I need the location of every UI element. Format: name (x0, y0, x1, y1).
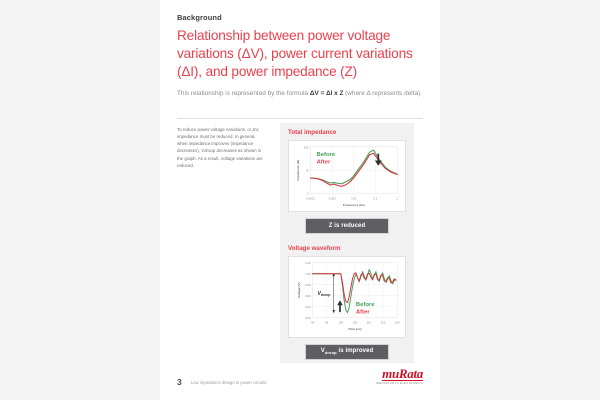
impedance-xtick-3: 0.1 (374, 196, 378, 200)
footer-text: Low impedance design in power circuits (191, 381, 376, 386)
voltage-callout-button[interactable]: Vdroop is improved (305, 344, 389, 361)
voltage-ytick-5: 0.92 (305, 315, 311, 319)
subtitle-pre: This relationship is represented by the … (177, 90, 310, 97)
screenshot-canvas: Background Relationship between power vo… (0, 0, 600, 400)
impedance-xtick-0: 0.0001 (306, 196, 315, 200)
page-header: Background Relationship between power vo… (177, 13, 423, 98)
page-title: Relationship between power voltage varia… (177, 27, 423, 81)
voltage-ytick-4: 0.94 (305, 304, 311, 308)
impedance-legend-after: After (317, 159, 331, 165)
voltage-ytick-3: 0.96 (305, 294, 311, 298)
voltage-xtick-6: 120 (395, 320, 400, 324)
voltage-chart-heading: Voltage waveform (288, 245, 406, 252)
impedance-xaxis-title: Frequency (Hz) (343, 203, 365, 207)
impedance-ytick-10: 10 (305, 169, 309, 173)
voltage-ytick-0: 1.02 (305, 261, 311, 265)
impedance-ytick-1: 1 (307, 192, 309, 196)
voltage-xtick-1: 95 (325, 320, 329, 324)
impedance-xtick-4: 1 (396, 196, 398, 200)
voltage-xtick-4: 110 (367, 320, 372, 324)
murata-logo: muRata INNOVATOR IN ELECTRONICS (376, 366, 423, 386)
voltage-xtick-5: 115 (381, 320, 386, 324)
voltage-legend-after: After (356, 309, 370, 315)
impedance-xtick-2: 0.01 (351, 196, 357, 200)
eyebrow-label: Background (177, 13, 423, 22)
voltage-xtick-0: 90 (311, 320, 315, 324)
impedance-chart-heading: Total impedance (288, 129, 406, 136)
page-number: 3 (177, 378, 182, 387)
page-subtitle: This relationship is represented by the … (177, 89, 423, 99)
voltage-callout-sub: droop (325, 350, 337, 355)
subtitle-post: (where Δ represents delta). (343, 90, 422, 97)
murata-tagline: INNOVATOR IN ELECTRONICS (376, 383, 423, 386)
impedance-legend-before: Before (317, 152, 336, 158)
voltage-ytick-2: 0.98 (305, 283, 311, 287)
charts-card: Total impedance (280, 123, 414, 363)
impedance-yaxis-title: Impedance (Ω) (296, 160, 300, 181)
murata-wordmark: muRata (382, 367, 423, 381)
body-copy: To reduce power voltage variations, or Δ… (177, 126, 263, 169)
voltage-callout-post: is improved (337, 348, 374, 354)
voltage-legend-before: Before (356, 301, 375, 307)
voltage-ytick-1: 1.00 (305, 272, 311, 276)
voltage-yaxis-title: Voltage (V) (297, 282, 301, 297)
voltage-xtick-3: 105 (352, 320, 357, 324)
impedance-chart: Before After 100 10 1 Impedance (Ω) 0.00… (288, 140, 406, 212)
page-footer: 3 Low impedance design in power circuits… (177, 366, 423, 386)
voltage-xaxis-title: Time (ns) (348, 327, 361, 331)
impedance-xtick-1: 0.001 (329, 196, 337, 200)
voltage-xtick-2: 100 (338, 320, 343, 324)
subtitle-formula: ΔV = ΔI x Z (310, 90, 344, 97)
voltage-chart: Vdroop Before After 1.02 1.00 0.98 0.96 … (288, 256, 406, 338)
voltage-chart-svg: Vdroop Before After 1.02 1.00 0.98 0.96 … (289, 257, 405, 337)
impedance-ytick-100: 100 (304, 145, 309, 149)
impedance-chart-svg: Before After 100 10 1 Impedance (Ω) 0.00… (289, 141, 405, 211)
header-divider (177, 118, 423, 119)
impedance-callout-button[interactable]: Z is reduced (305, 218, 389, 234)
document-page: Background Relationship between power vo… (160, 0, 440, 400)
